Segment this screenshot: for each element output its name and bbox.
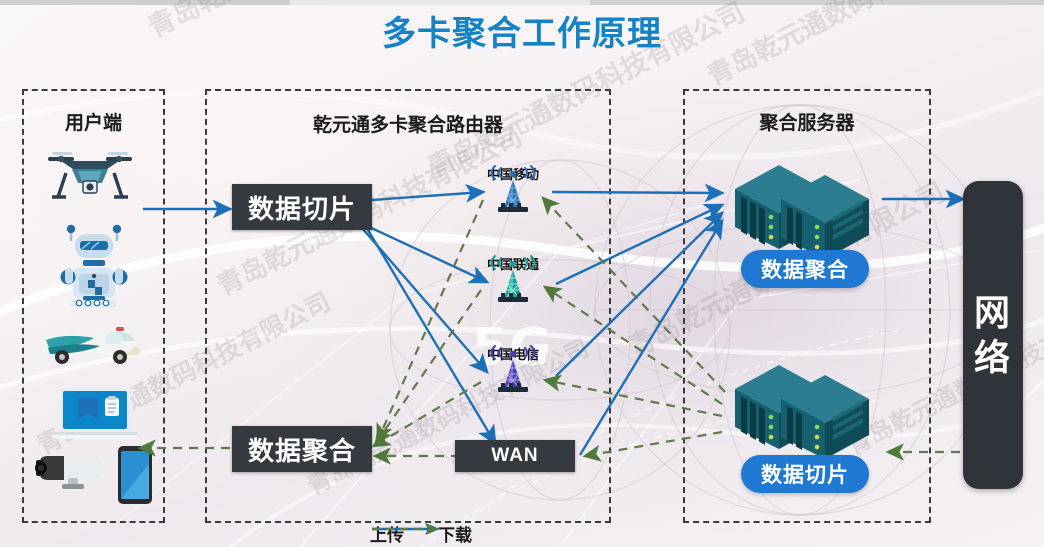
wan-box[interactable]: WAN <box>455 440 575 472</box>
panel-client-title: 用户端 <box>22 108 165 135</box>
panel-server-title: 聚合服务器 <box>683 108 931 135</box>
legend-label-download: 下载 <box>438 521 472 546</box>
tower-icon <box>473 253 553 305</box>
ambulance-icon <box>36 316 148 372</box>
network-char-2: 络 <box>974 335 1012 380</box>
phone-icon <box>116 444 154 506</box>
tower-china-mobile: 中国移动 <box>473 163 553 183</box>
legend-item-download: 下载 <box>438 521 472 546</box>
server-pill-slice[interactable]: 数据切片 <box>741 455 869 493</box>
drone-icon <box>36 143 146 203</box>
network-box[interactable]: 网 络 <box>963 181 1023 489</box>
server-stack-lower-icon <box>727 355 887 460</box>
data-slice-box[interactable]: 数据切片 <box>232 184 372 230</box>
page-title: 多卡聚合工作原理 <box>0 6 1044 55</box>
robot-icon <box>55 218 133 308</box>
legend: 上传 下载 <box>370 521 472 546</box>
server-pill-aggregate[interactable]: 数据聚合 <box>741 250 869 288</box>
tower-icon <box>473 343 553 395</box>
tower-icon <box>473 163 553 215</box>
network-char-1: 网 <box>974 290 1012 335</box>
tower-china-unicom: 中国联通 <box>473 253 553 273</box>
camera-icon <box>34 448 112 494</box>
data-aggregate-box[interactable]: 数据聚合 <box>232 426 372 472</box>
server-stack-upper-icon <box>727 155 887 260</box>
laptop-icon <box>50 384 140 444</box>
legend-dashed-arrow-icon <box>370 521 442 537</box>
panel-router-title: 乾元通多卡聚合路由器 <box>205 110 611 137</box>
diagram-canvas: 5G 青岛乾元通数码科技有限公司 青岛乾元通数码科技有限公司 青岛乾元通数码科技… <box>0 0 1044 547</box>
tower-china-telecom: 中国电信 <box>473 343 553 363</box>
